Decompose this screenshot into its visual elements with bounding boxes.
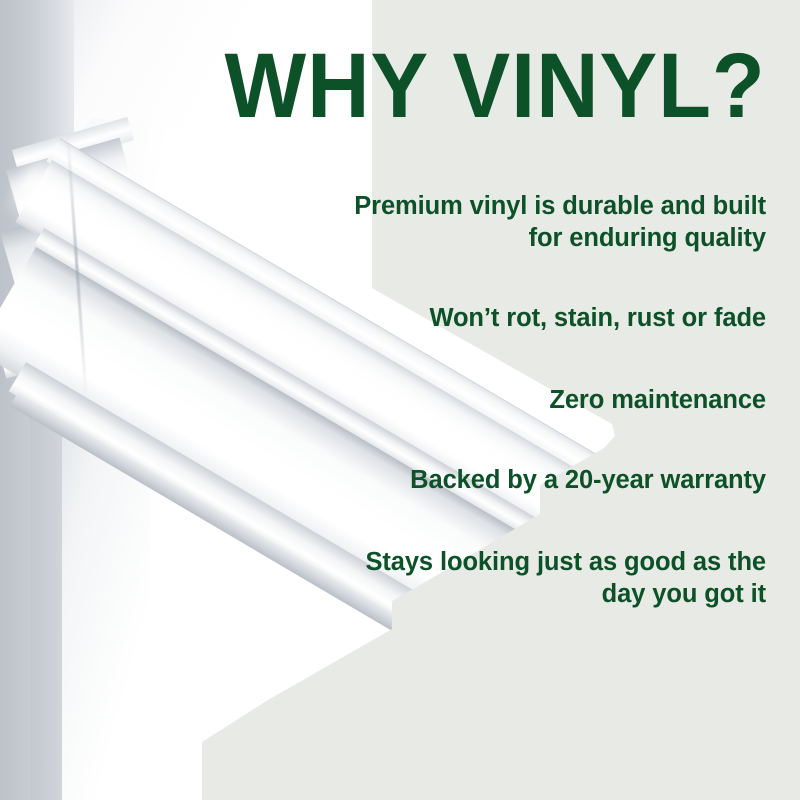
page-title: WHY VINYL? — [225, 38, 766, 134]
why-vinyl-graphic: WHY VINYL? Premium vinyl is durable and … — [0, 0, 800, 800]
benefit-item-appearance: Stays looking just as good as the day yo… — [346, 546, 766, 610]
benefit-item-maintenance: Zero maintenance — [346, 384, 766, 416]
benefit-item-warranty: Backed by a 20-year warranty — [346, 464, 766, 496]
benefit-item-durability: Premium vinyl is durable and built for e… — [346, 190, 766, 254]
text-content: WHY VINYL? Premium vinyl is durable and … — [0, 0, 800, 800]
benefit-item-resistance: Won’t rot, stain, rust or fade — [346, 302, 766, 334]
benefit-list: Premium vinyl is durable and built for e… — [346, 190, 766, 610]
